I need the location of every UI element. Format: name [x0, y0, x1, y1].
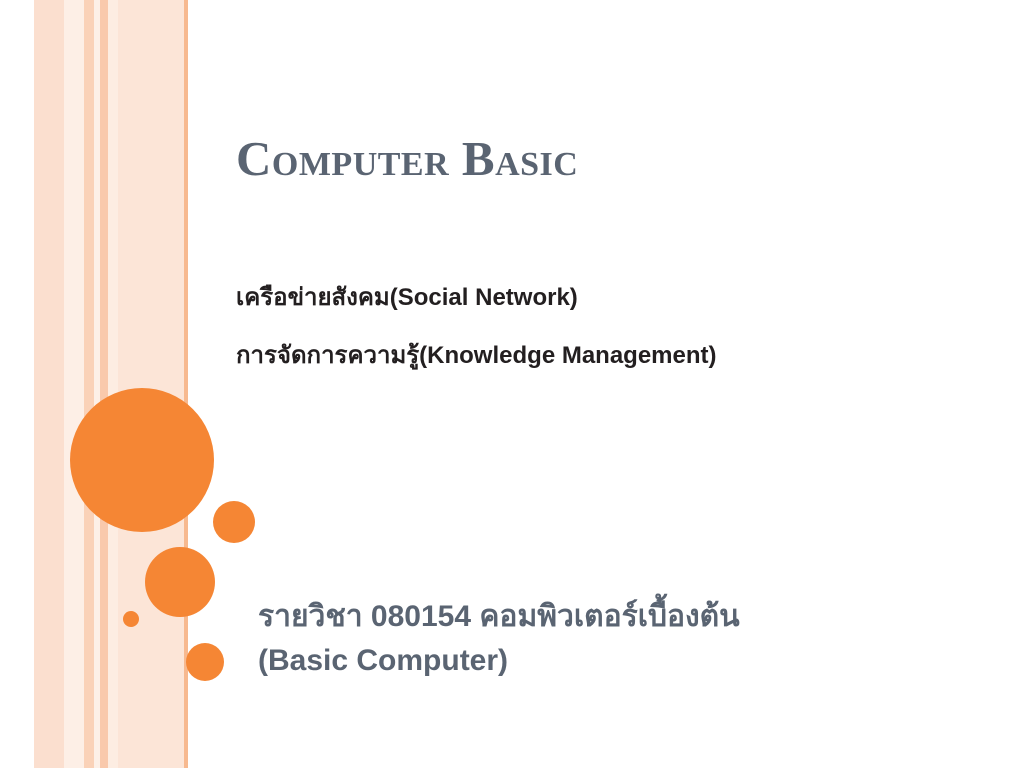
- slide-content: Computer Basic เครือข่ายสังคม(Social Net…: [0, 0, 1024, 768]
- bullet-list: เครือข่ายสังคม(Social Network) การจัดการ…: [236, 286, 996, 402]
- course-info: รายวิชา 080154 คอมพิวเตอร์เบื้องต้น (Bas…: [258, 595, 998, 682]
- bullet-item-1: เครือข่ายสังคม(Social Network): [236, 286, 996, 310]
- bullet-item-2: การจัดการความรู้(Knowledge Management): [236, 344, 996, 368]
- course-title-th: รายวิชา 080154 คอมพิวเตอร์เบื้องต้น: [258, 600, 740, 633]
- slide-title: Computer Basic: [236, 132, 976, 186]
- course-title-en: (Basic Computer): [258, 639, 998, 683]
- presentation-slide: Computer Basic เครือข่ายสังคม(Social Net…: [0, 0, 1024, 768]
